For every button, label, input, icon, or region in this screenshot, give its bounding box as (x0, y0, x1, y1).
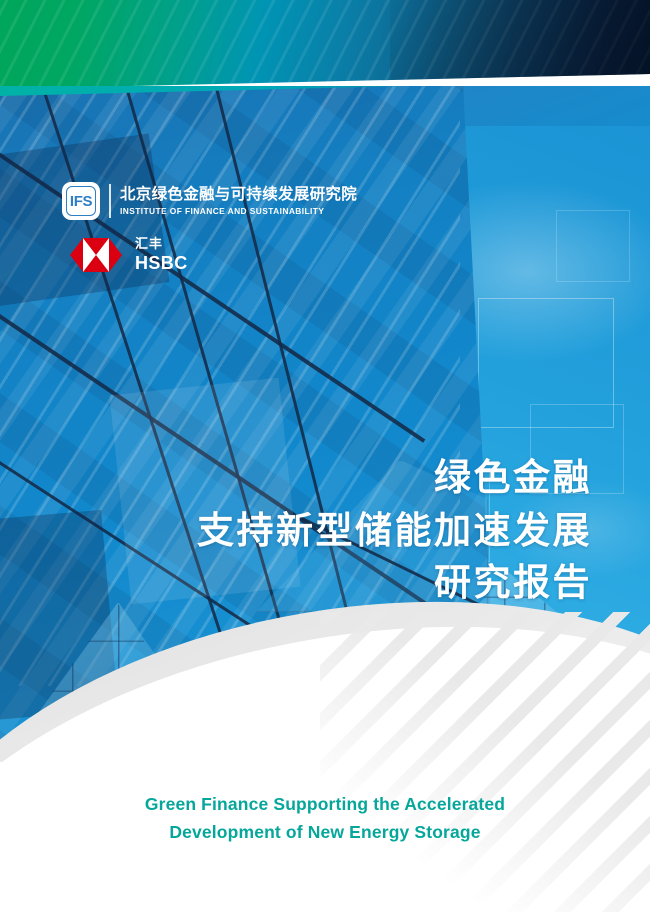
title-line-1: 绿色金融 (197, 452, 592, 505)
ifs-logo: IFS 北京绿色金融与可持续发展研究院 INSTITUTE OF FINANCE… (62, 182, 357, 220)
corner-diagonal-stripes (320, 612, 650, 912)
ifs-mark-icon: IFS (62, 182, 100, 220)
title-line-2: 支持新型储能加速发展 (197, 505, 592, 558)
hsbc-name-en: HSBC (135, 254, 188, 272)
ifs-name-en: INSTITUTE OF FINANCE AND SUSTAINABILITY (120, 206, 357, 216)
subtitle-line-1: Green Finance Supporting the Accelerated (0, 790, 650, 818)
title-line-3: 研究报告 (197, 557, 592, 610)
ifs-name-cn: 北京绿色金融与可持续发展研究院 (120, 186, 357, 204)
logo-divider (109, 184, 111, 218)
hsbc-names: 汇丰 HSBC (135, 238, 188, 272)
hsbc-name-cn: 汇丰 (135, 238, 188, 251)
cover-title: 绿色金融 支持新型储能加速发展 研究报告 (197, 452, 592, 610)
ifs-mark-label: IFS (70, 193, 92, 210)
bottom-sweep (0, 600, 650, 912)
subtitle-line-2: Development of New Energy Storage (0, 818, 650, 846)
cover-subtitle: Green Finance Supporting the Accelerated… (0, 790, 650, 847)
report-cover: IFS 北京绿色金融与可持续发展研究院 INSTITUTE OF FINANCE… (0, 0, 650, 912)
hsbc-hexagon-icon (70, 238, 122, 272)
hsbc-logo: 汇丰 HSBC (70, 238, 357, 272)
ifs-names: 北京绿色金融与可持续发展研究院 INSTITUTE OF FINANCE AND… (120, 186, 357, 216)
wireframe-square-5 (556, 210, 630, 282)
logo-block: IFS 北京绿色金融与可持续发展研究院 INSTITUTE OF FINANCE… (62, 182, 357, 272)
